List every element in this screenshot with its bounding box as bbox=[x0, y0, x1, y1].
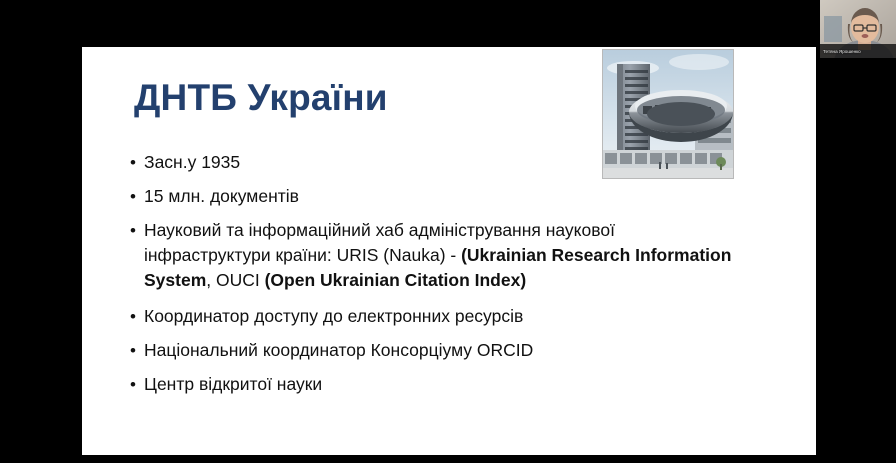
text-run: Координатор доступу до електронних ресур… bbox=[144, 306, 523, 326]
list-item-text: Координатор доступу до електронних ресур… bbox=[144, 304, 770, 329]
bullet-list: • Засн.у 1935 • 15 млн. документів • Нау… bbox=[130, 150, 770, 406]
text-run-bold: (Open Ukrainian Citation Index) bbox=[265, 270, 527, 290]
list-item-text: Засн.у 1935 bbox=[144, 150, 770, 175]
bullet-marker: • bbox=[130, 338, 144, 363]
list-item: • Координатор доступу до електронних рес… bbox=[130, 304, 770, 329]
bullet-marker: • bbox=[130, 218, 144, 243]
list-item-text: 15 млн. документів bbox=[144, 184, 770, 209]
bullet-marker: • bbox=[130, 304, 144, 329]
webcam-participant-name: Тетяна Ярошенко bbox=[823, 49, 893, 55]
screen-share-stage: ДНТБ України bbox=[0, 0, 896, 463]
list-item-text: Центр відкритої науки bbox=[144, 372, 770, 397]
list-item: • Національний координатор Консорціуму O… bbox=[130, 338, 770, 363]
list-item-text: Національний координатор Консорціуму ORC… bbox=[144, 338, 770, 363]
list-item: • Центр відкритої науки bbox=[130, 372, 770, 397]
bullet-marker: • bbox=[130, 150, 144, 175]
bullet-marker: • bbox=[130, 372, 144, 397]
webcam-tile[interactable]: Тетяна Ярошенко bbox=[820, 0, 896, 58]
text-run-bold: System bbox=[144, 270, 206, 290]
list-item-text: Науковий та інформаційний хаб адміністру… bbox=[144, 218, 770, 293]
text-run: Національний координатор Консорціуму ORC… bbox=[144, 340, 533, 360]
text-run-bold: (Ukrainian Research Information bbox=[461, 245, 731, 265]
bullet-marker: • bbox=[130, 184, 144, 209]
list-item: • 15 млн. документів bbox=[130, 184, 770, 209]
text-run: Засн.у 1935 bbox=[144, 152, 240, 172]
text-run: Центр відкритої науки bbox=[144, 374, 322, 394]
text-run: 15 млн. документів bbox=[144, 186, 299, 206]
text-run: Науковий та інформаційний хаб адміністру… bbox=[144, 220, 615, 240]
list-item: • Науковий та інформаційний хаб адмініст… bbox=[130, 218, 770, 293]
text-run: інфраструктури країни: URIS (Nauka) - bbox=[144, 245, 461, 265]
list-item: • Засн.у 1935 bbox=[130, 150, 770, 175]
presentation-slide: ДНТБ України bbox=[82, 47, 816, 455]
text-run: , OUCI bbox=[206, 270, 264, 290]
page-title: ДНТБ України bbox=[134, 77, 388, 119]
